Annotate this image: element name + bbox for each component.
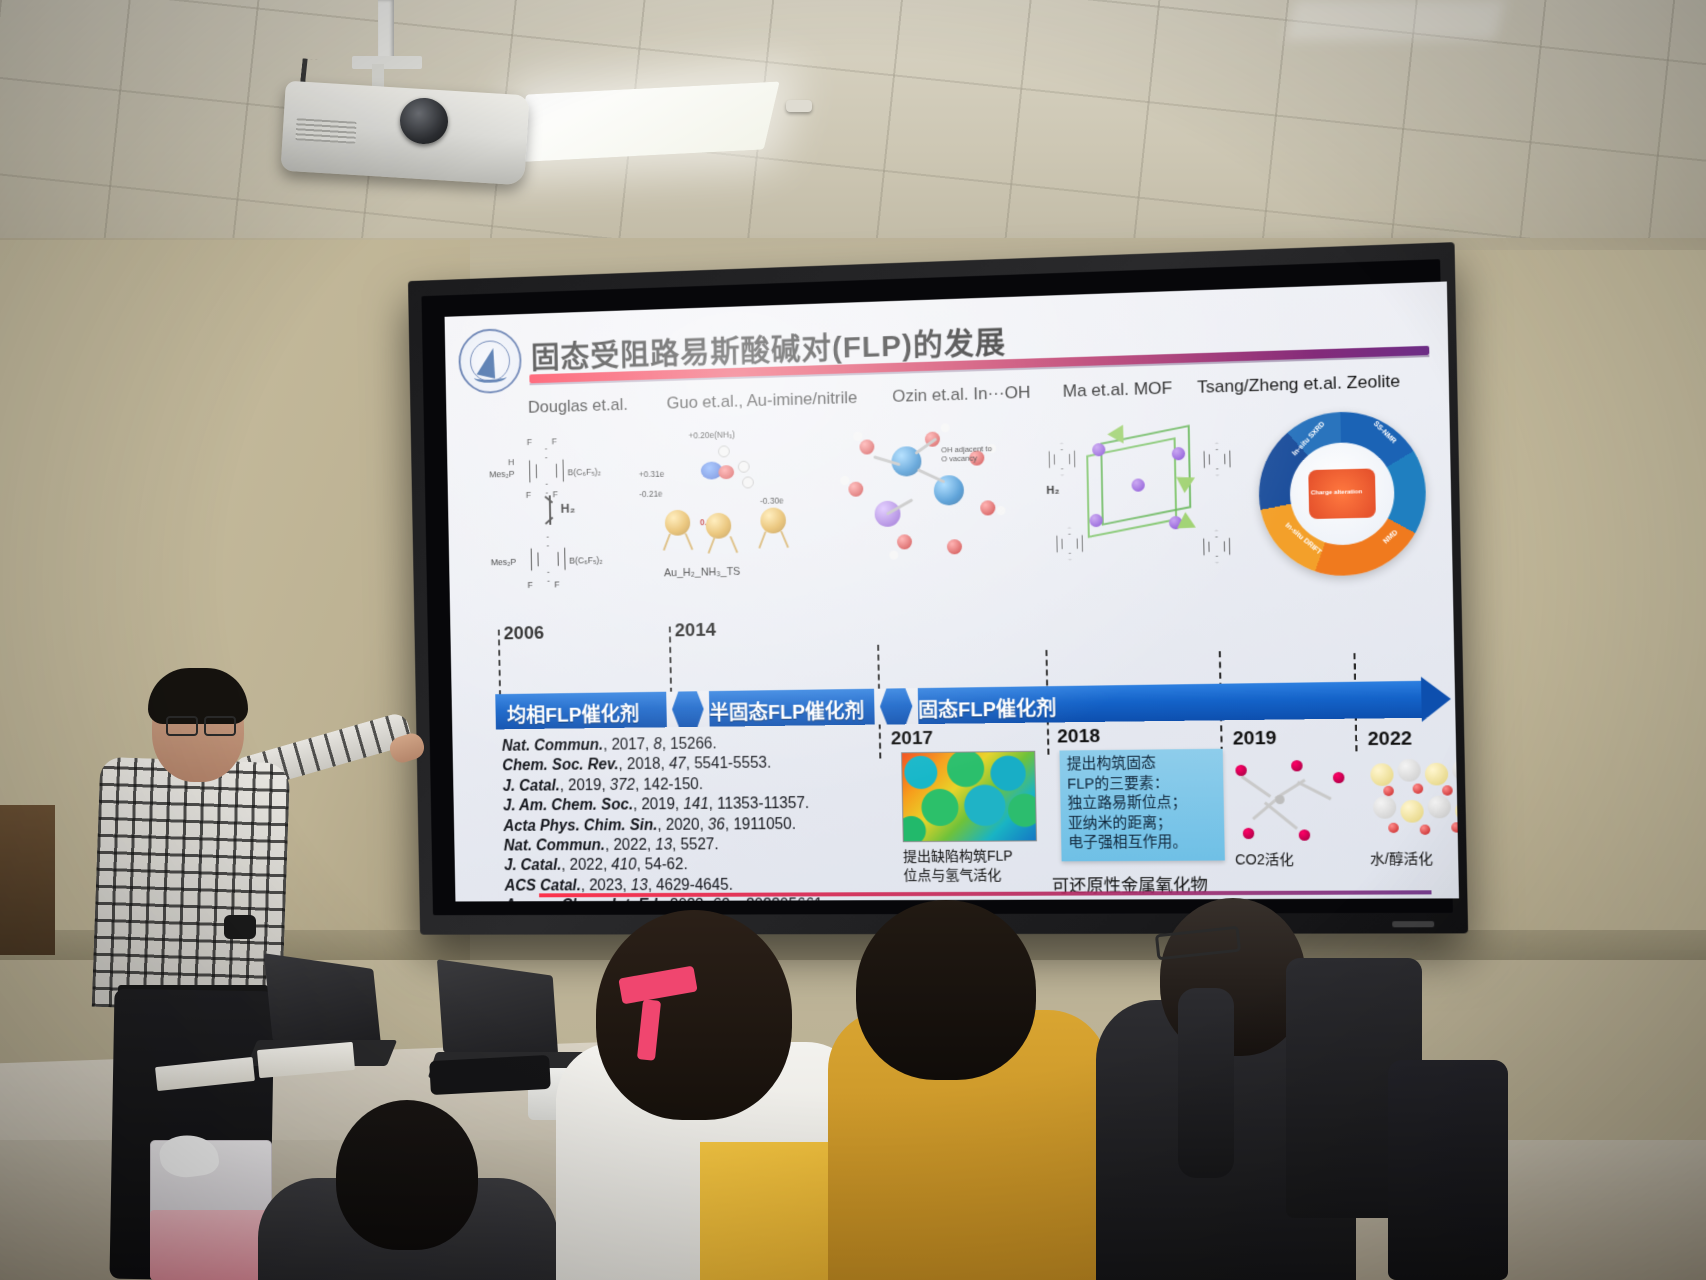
- atom-H-white-b: [742, 476, 754, 488]
- author-label-douglas: Douglas et.al.: [528, 395, 628, 418]
- atom-label-F-b: F: [552, 436, 557, 446]
- ref-year: 2020: [666, 816, 700, 833]
- ref-journal: J. Am. Chem. Soc.: [503, 797, 633, 815]
- co2-activation-structure-image: [1233, 756, 1351, 845]
- ref-year: 2019: [568, 777, 602, 794]
- structure-zeolite-wheel: In-situ SXRD SS-NMR Charge alteration In…: [1241, 403, 1442, 588]
- author-label-ma: Ma et.al. MOF: [1062, 378, 1172, 401]
- timeline-tick-2006: [498, 630, 501, 696]
- timeline-year-2014: 2014: [675, 620, 717, 642]
- projector-vent: [295, 118, 356, 144]
- timeline-banner: 均相FLP催化剂 半固态FLP催化剂 固态FLP催化剂: [495, 681, 1407, 729]
- ref-vol: 410: [611, 857, 636, 874]
- callout-line-1: 提出构筑固态: [1067, 754, 1216, 775]
- charge-label-021: -0.21e: [639, 489, 663, 499]
- atom-label-Mes2P-lower: Mes₂P: [491, 557, 516, 567]
- lattice-atom-a: [1370, 763, 1393, 786]
- ref-pages: 142-150.: [643, 776, 703, 793]
- logo-sail-shape: [477, 346, 502, 379]
- display-bezel-inner: 固态受阻路易斯酸碱对(FLP)的发展 Douglas et.al. Guo et…: [421, 259, 1452, 915]
- node-e: [1299, 829, 1311, 840]
- gold-atom-mid: [706, 513, 732, 539]
- callout-line-2: FLP的三要素：: [1067, 774, 1216, 795]
- atom-label-BC6F5-lower: B(C₆F₅)₂: [569, 555, 603, 566]
- logo-wave-shape: [474, 371, 507, 383]
- node-center: [1275, 795, 1284, 804]
- lattice-o-b: [1413, 783, 1424, 793]
- mof-arrow-c: [1177, 512, 1200, 536]
- atom-label-BC6F5-upper: B(C₆F₅)₂: [567, 467, 601, 478]
- bond-a: [1241, 775, 1271, 797]
- lattice-atom-c: [1425, 763, 1449, 786]
- ref-pages: 4629-4645.: [656, 877, 733, 894]
- atom-N-white: [718, 445, 730, 457]
- band-label-solid: 固态FLP催化剂: [918, 692, 1057, 723]
- zeolite-label-charge: Charge alteration: [1311, 489, 1363, 496]
- atom-H-white-a: [738, 461, 750, 473]
- ceiling-light-panel: [510, 82, 779, 163]
- bond-leg-e: [758, 531, 766, 548]
- callout-line-4: 亚纳米的距离；: [1068, 813, 1217, 834]
- structure-mof: H₂: [1043, 417, 1230, 583]
- atom-label-F-e: F: [527, 580, 532, 590]
- bond-in-in: [917, 468, 945, 483]
- atom-O-d: [848, 482, 863, 497]
- chair-back-far-right[interactable]: [1388, 1060, 1508, 1280]
- presenter-clicker[interactable]: [224, 915, 256, 939]
- atom-H-b: [941, 423, 950, 432]
- bond-leg-b: [685, 533, 694, 550]
- bond-d: [1297, 781, 1332, 800]
- reference-list: Nat. Commun., 2017, 8, 15266. Chem. Soc.…: [502, 732, 924, 901]
- atom-H-e: [996, 506, 1005, 515]
- gold-atom-right: [760, 507, 786, 533]
- atom-label-F-c: F: [526, 490, 531, 500]
- ref-pages: 54-62.: [645, 857, 688, 874]
- ref-pages: 5527.: [680, 836, 718, 853]
- ref-vol: 141: [683, 796, 709, 813]
- ref-year: 2022: [613, 837, 647, 854]
- node-b: [1291, 760, 1303, 771]
- ceiling-tile-grid: [0, 0, 1706, 272]
- panel-2018-callout: 提出构筑固态 FLP的三要素： 独立路易斯位点； 亚纳米的距离； 电子强相互作用…: [1059, 749, 1224, 861]
- ref-vol: 13: [655, 837, 672, 854]
- annotation-oh-adjacent: OH adjacent to O vacancy: [941, 444, 999, 464]
- reference-item: Nat. Commun., 2022, 13, 5527.: [504, 834, 923, 857]
- ref-journal: J. Catal.: [504, 857, 561, 874]
- water-alcohol-activation-lattice-image: [1368, 754, 1459, 843]
- ref-vol: 47: [669, 756, 686, 773]
- bond-leg-d: [730, 536, 739, 553]
- author-label-guo: Guo et.al., Au-imine/nitrile: [666, 388, 857, 414]
- ref-vol: 62: [712, 897, 729, 902]
- ref-year: 2018: [627, 756, 661, 773]
- audience-1-head: [336, 1100, 478, 1250]
- gold-atom-left: [665, 510, 691, 536]
- lattice-o-f: [1420, 825, 1431, 835]
- ref-year: 2017: [611, 736, 645, 753]
- audience-3-head: [856, 900, 1036, 1080]
- band-label-semisolid: 半固态FLP催化剂: [709, 695, 864, 726]
- atom-label-H-top: H: [508, 457, 514, 467]
- bond-leg-c: [708, 536, 716, 553]
- timeline-year-2022: 2022: [1367, 728, 1412, 751]
- ref-vol: 13: [631, 877, 648, 894]
- conference-room-scene: 固态受阻路易斯酸碱对(FLP)的发展 Douglas et.al. Guo et…: [0, 0, 1706, 1280]
- projector-ceiling-mount: [378, 0, 394, 62]
- tissue-box-label: [150, 1210, 272, 1280]
- ref-journal: Nat. Commun.: [504, 837, 606, 854]
- structure-in-oh-cluster: OH adjacent to O vacancy: [829, 413, 1042, 596]
- ref-pages: 11353-11357.: [717, 795, 809, 813]
- reference-item: Acta Phys. Chim. Sin., 2020, 36, 1911050…: [503, 814, 922, 837]
- lattice-o-c: [1442, 785, 1453, 795]
- atom-H-a: [853, 432, 862, 441]
- aryl-ring-lower: [530, 536, 565, 582]
- timeline-tick-2014: [669, 627, 672, 694]
- lattice-o-a: [1383, 786, 1394, 796]
- ref-journal: Chem. Soc. Rev.: [502, 757, 619, 775]
- timeline-arrow-head-icon: [1421, 676, 1451, 722]
- presenter-glasses-icon: [166, 716, 236, 732]
- atom-label-F-d: F: [553, 489, 558, 499]
- node-d: [1243, 828, 1255, 839]
- atom-label-Mes2P-upper: Mes₂P: [489, 469, 514, 479]
- smoke-detector-icon: [786, 100, 812, 112]
- ref-journal: Acta Phys. Chim. Sin.: [503, 817, 657, 835]
- ref-vol: 36: [708, 816, 725, 833]
- atom-label-F-f: F: [554, 580, 559, 590]
- charge-label-nh3: +0.20e(NH₃): [688, 429, 735, 440]
- ref-pages: e202305661.: [737, 897, 827, 902]
- mof-ligand-ring-c: [1203, 442, 1230, 476]
- mof-ligand-ring-a: [1049, 442, 1076, 476]
- lattice-atom-g: [1427, 796, 1451, 819]
- bond-leg-a: [663, 533, 671, 550]
- ref-pages: 5541-5553.: [694, 755, 771, 773]
- lattice-atom-d: [1452, 758, 1459, 781]
- callout-line-3: 独立路易斯位点；: [1067, 794, 1216, 815]
- ref-journal: ACS Catal.: [504, 877, 581, 894]
- aryl-ring-upper: [529, 448, 564, 494]
- timeline-year-2006: 2006: [503, 623, 544, 645]
- panel-2022: 水/醇活化: [1368, 754, 1459, 869]
- structure-row: F F H Mes₂P B(C₆F₅)₂ F F H₂ Mes₂P B(C₆F₅…: [469, 401, 1431, 604]
- charge-density-heatmap-image: [901, 751, 1037, 842]
- ref-pages: 1911050.: [733, 816, 796, 833]
- callout-line-5: 电子强相互作用。: [1068, 833, 1217, 854]
- ref-vol: 372: [610, 777, 635, 794]
- band-label-homogeneous: 均相FLP催化剂: [507, 698, 640, 728]
- university-logo-icon: [458, 328, 522, 394]
- ref-year: 2019: [641, 796, 675, 813]
- lattice-o-e: [1388, 823, 1399, 833]
- audience-2-head: [596, 910, 792, 1120]
- bond-leg-f: [780, 531, 789, 548]
- atom-O-a: [859, 439, 874, 454]
- ref-journal: Nat. Commun.: [502, 737, 604, 755]
- charge-label-030: -0.30e: [760, 495, 784, 505]
- ref-pages: 15266.: [670, 736, 717, 753]
- panel-2017-caption-line2: 位点与氢气活化: [903, 865, 1044, 885]
- atom-label-H2: H₂: [560, 501, 575, 516]
- lattice-o-g: [1451, 822, 1459, 832]
- presentation-slide[interactable]: 固态受阻路易斯酸碱对(FLP)的发展 Douglas et.al. Guo et…: [445, 281, 1459, 901]
- atom-O-f: [897, 534, 912, 549]
- lattice-atom-h: [1455, 799, 1459, 822]
- structure-douglas-flp: F F H Mes₂P B(C₆F₅)₂ F F H₂ Mes₂P B(C₆F₅…: [492, 432, 639, 602]
- wall-display[interactable]: 固态受阻路易斯酸碱对(FLP)的发展 Douglas et.al. Guo et…: [408, 242, 1468, 935]
- ref-journal: J. Catal.: [503, 777, 560, 794]
- atom-H-d: [840, 476, 849, 485]
- chair-armrest-right[interactable]: [1178, 988, 1234, 1178]
- charge-label-031: +0.31e: [639, 469, 665, 480]
- panel-2022-caption: 水/醇活化: [1370, 849, 1459, 869]
- reference-item: J. Catal., 2022, 410, 54-62.: [504, 854, 923, 876]
- conference-phone[interactable]: [429, 1055, 551, 1095]
- side-cabinet: [0, 805, 55, 955]
- ceiling: [0, 0, 1706, 272]
- lattice-atom-e: [1373, 796, 1396, 819]
- lattice-atom-b: [1397, 759, 1421, 782]
- node-a: [1235, 765, 1247, 776]
- orbital-lobe-red: [718, 465, 734, 479]
- ref-year: 2022: [569, 857, 603, 874]
- node-c: [1333, 772, 1345, 783]
- lattice-atom-f: [1400, 800, 1424, 823]
- atom-O-e: [980, 500, 995, 515]
- author-label-ozin: Ozin et.al. In···OH: [892, 383, 1030, 407]
- atom-H-f: [889, 551, 898, 560]
- ref-year: 2023: [670, 897, 704, 901]
- equilibrium-arrow-icon: [549, 495, 551, 524]
- panel-2017-caption-line1: 提出缺陷构筑FLP: [903, 846, 1044, 866]
- timeline-year-2018: 2018: [1057, 726, 1100, 749]
- panel-2019: CO2活化: [1233, 755, 1360, 869]
- structure-au-h2-nh3-ts: +0.20e(NH₃) +0.31e -0.21e -0.30e 0.02: [634, 419, 823, 600]
- structure-caption-au-ts: Au_H₂_NH₃_TS: [664, 566, 741, 579]
- panel-2017: 提出缺陷构筑FLP 位点与氢气活化: [901, 751, 1044, 885]
- atom-label-F-a: F: [527, 437, 532, 447]
- atom-label-h2-mof: H₂: [1046, 485, 1059, 497]
- panel-2019-caption: CO2活化: [1235, 850, 1360, 870]
- mof-ligand-ring-b: [1056, 527, 1083, 561]
- ref-year: 2023: [589, 877, 623, 894]
- ref-vol: 8: [653, 736, 662, 753]
- author-label-tsang: Tsang/Zheng et.al. Zeolite: [1197, 371, 1400, 398]
- ceiling-light-panel-secondary: [1285, 0, 1505, 40]
- display-brand-logo: [1392, 921, 1434, 927]
- mof-ligand-ring-d: [1203, 530, 1230, 564]
- ref-journal: Agnew. Chem. Int. Ed.: [505, 897, 662, 901]
- atom-O-g: [947, 539, 962, 554]
- timeline-year-2019: 2019: [1233, 728, 1277, 751]
- presenter-torso: [92, 757, 291, 1013]
